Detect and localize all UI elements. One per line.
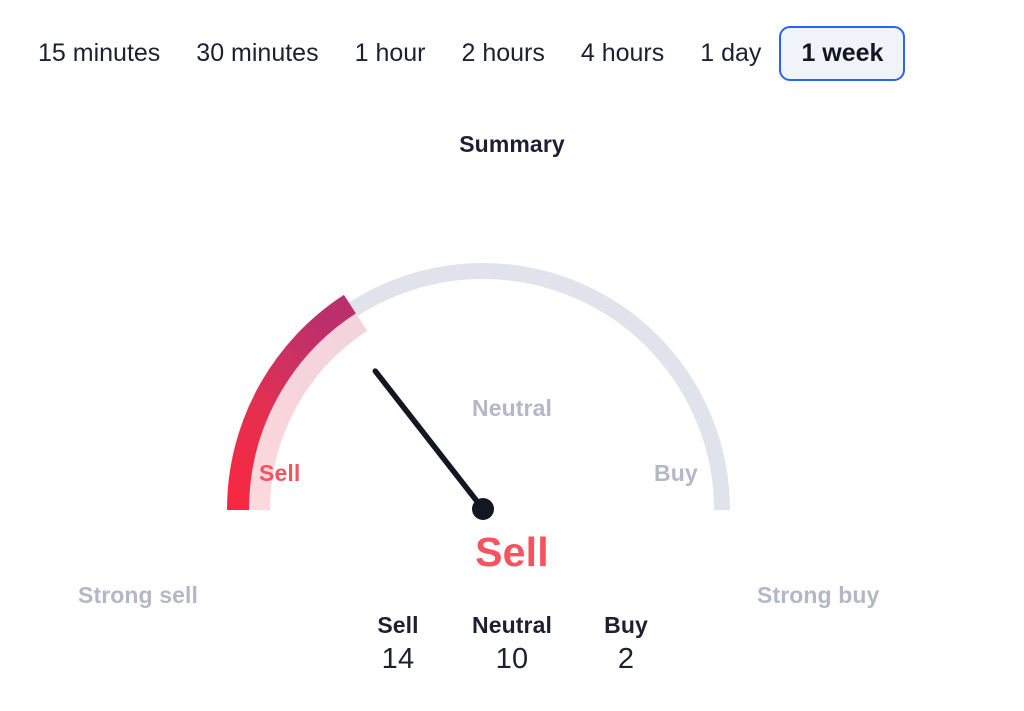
gauge-label-strong-buy: Strong buy	[757, 582, 879, 609]
page-title: Summary	[0, 131, 1024, 158]
gauge-needle-pivot	[472, 498, 494, 520]
gauge-label-buy: Buy	[654, 460, 698, 487]
count-label-buy: Buy	[569, 612, 683, 638]
count-column-sell: Sell 14	[341, 612, 455, 680]
tab-15-minutes[interactable]: 15 minutes	[20, 26, 178, 81]
count-label-neutral: Neutral	[455, 612, 569, 638]
count-column-neutral: Neutral 10	[455, 612, 569, 680]
tab-4-hours[interactable]: 4 hours	[563, 26, 682, 81]
tab-2-hours[interactable]: 2 hours	[443, 26, 562, 81]
gauge-track-arc	[244, 271, 722, 510]
timeframe-tab-bar: 15 minutes 30 minutes 1 hour 2 hours 4 h…	[0, 18, 1024, 88]
count-value-buy: 2	[569, 638, 683, 680]
tab-30-minutes[interactable]: 30 minutes	[178, 26, 336, 81]
gauge-verdict: Sell	[0, 529, 1024, 576]
tab-1-hour[interactable]: 1 hour	[337, 26, 444, 81]
gauge-needle	[375, 371, 483, 509]
count-value-neutral: 10	[455, 638, 569, 680]
technical-analysis-panel: 15 minutes 30 minutes 1 hour 2 hours 4 h…	[0, 0, 1024, 711]
gauge-label-strong-sell: Strong sell	[78, 582, 198, 609]
gauge-label-neutral: Neutral	[0, 395, 1024, 422]
count-value-sell: 14	[341, 638, 455, 680]
tab-1-week[interactable]: 1 week	[779, 26, 905, 81]
count-column-buy: Buy 2	[569, 612, 683, 680]
tab-1-day[interactable]: 1 day	[682, 26, 779, 81]
count-label-sell: Sell	[341, 612, 455, 638]
signal-counts: Sell 14 Neutral 10 Buy 2	[0, 612, 1024, 680]
gauge-label-sell: Sell	[259, 460, 300, 487]
